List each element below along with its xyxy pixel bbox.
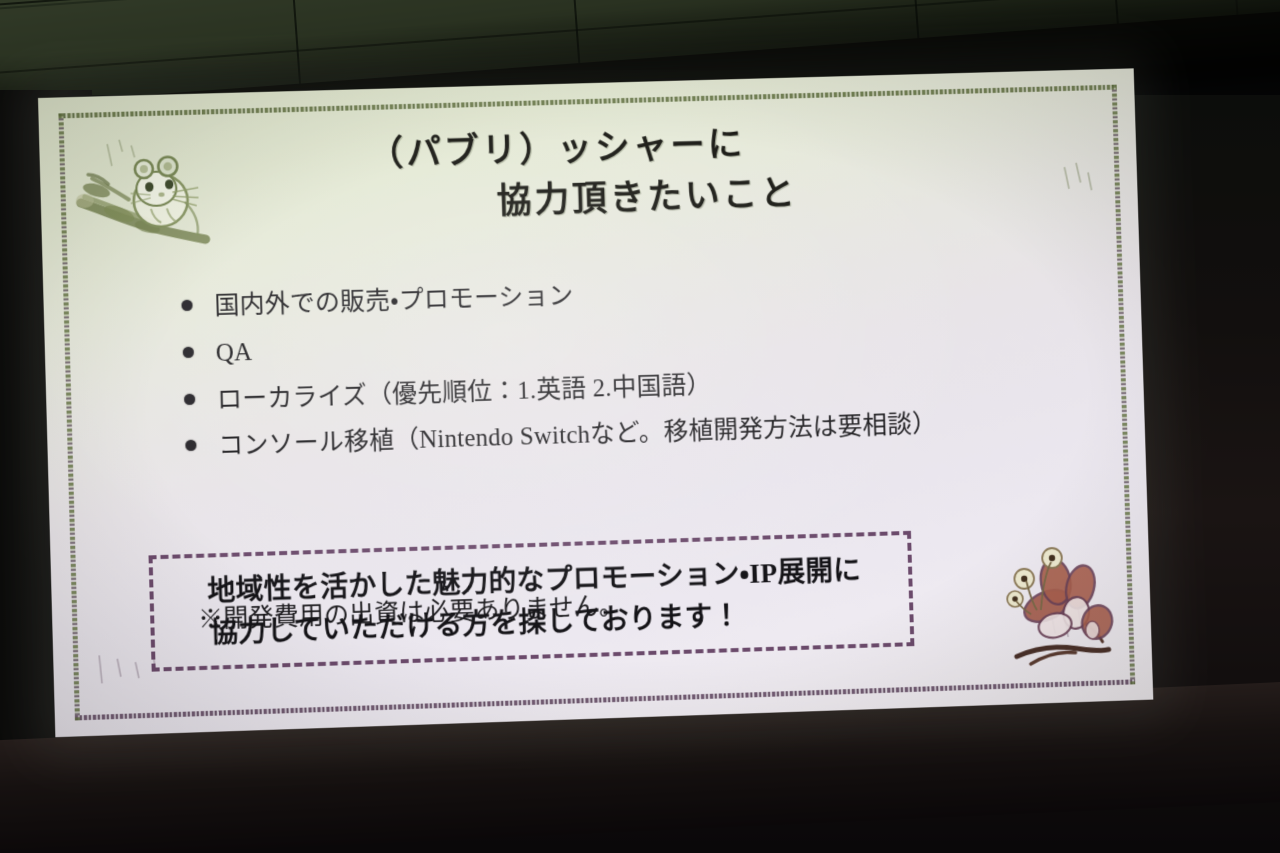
- bullet-text: コンソール移植（Nintendo Switchなど。移植開発方法は要相談）: [218, 411, 937, 462]
- ink-fleck: [1054, 160, 1105, 221]
- plum-blossom-illustration-icon: [984, 538, 1125, 672]
- room-background: （パブリ）ッシャーに 協力頂きたいこと 国内外での販売・プロモーション QA: [0, 0, 1280, 853]
- title-line-1: （パブリ）ッシャーに: [368, 120, 980, 173]
- bullet-dot-icon: [183, 346, 194, 357]
- title-line-2: 協力頂きたいこと: [496, 170, 981, 220]
- callout-box: 地域性を活かした魅力的なプロモーション・IP展開に 協力していただける方を探して…: [149, 531, 915, 672]
- list-item: QA: [183, 315, 1053, 370]
- list-item: コンソール移植（Nintendo Switchなど。移植開発方法は要相談）: [185, 407, 1055, 463]
- bullet-text: QA: [215, 339, 252, 369]
- list-item: ローカライズ（優先順位：1.英語 2.中国語）: [184, 361, 1054, 416]
- bullet-dot-icon: [184, 393, 195, 404]
- list-item: 国内外での販売・プロモーション: [181, 269, 1051, 323]
- bullet-text: 国内外での販売・プロモーション: [214, 283, 574, 322]
- bullet-dot-icon: [185, 440, 196, 451]
- bullet-list: 国内外での販売・プロモーション QA ローカライズ（優先順位：1.英語 2.中国…: [181, 269, 1055, 482]
- mouse-illustration-icon: [71, 141, 224, 255]
- bullet-dot-icon: [181, 300, 192, 311]
- bullet-text: ローカライズ（優先順位：1.英語 2.中国語）: [217, 371, 712, 415]
- slide: （パブリ）ッシャーに 協力頂きたいこと 国内外での販売・プロモーション QA: [38, 68, 1153, 737]
- projection-screen: （パブリ）ッシャーに 協力頂きたいこと 国内外での販売・プロモーション QA: [38, 68, 1153, 737]
- slide-title: （パブリ）ッシャーに 協力頂きたいこと: [368, 120, 982, 224]
